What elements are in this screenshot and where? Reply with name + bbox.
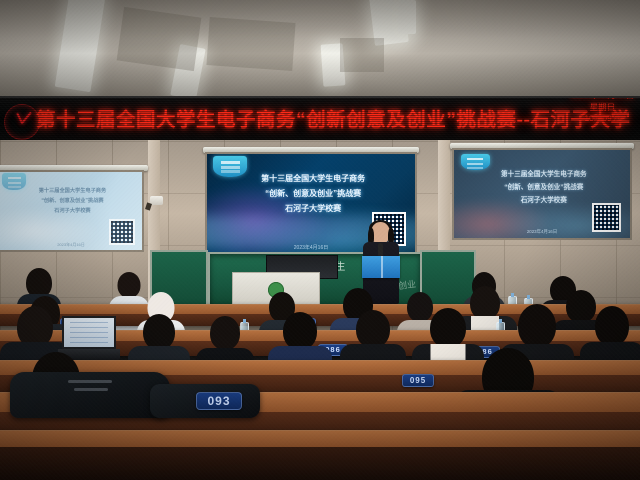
backpack-strap	[74, 388, 108, 391]
left-projection-screen: 第十三届全国大学生电子商务 “创新、创意及创业”挑战赛 石河子大学校赛 2023…	[0, 170, 144, 252]
screen-frame	[0, 170, 144, 252]
person-head	[518, 304, 556, 348]
ceiling	[0, 0, 640, 97]
lecture-hall-photo: 第十三届全国大学生电子商务“创新创意及创业”挑战赛--石河子大学 2023年04…	[0, 0, 640, 480]
desk-surface	[0, 430, 640, 448]
backpack-strap	[68, 380, 112, 383]
seat-placard: 093	[196, 392, 242, 410]
desk-front	[0, 447, 640, 480]
desk-row-nearest	[0, 430, 640, 480]
banner-weekday: 星期日	[571, 102, 634, 114]
right-projection-screen: 第十三届全国大学生电子商务 “创新、创意及创业”挑战赛 石河子大学校赛 2023…	[452, 148, 632, 240]
backpack	[10, 372, 170, 418]
clock-icon	[4, 104, 40, 140]
screen-frame	[452, 148, 632, 240]
banner-datetime: 2023年04月16日 星期日 10时09分	[571, 96, 634, 125]
banner-title: 第十三届全国大学生电子商务“创新创意及创业”挑战赛--石河子大学	[36, 104, 556, 137]
person-head	[143, 314, 175, 350]
laptop-screen	[62, 316, 116, 349]
security-camera-icon	[150, 196, 163, 205]
banner-date: 2023年04月16日	[571, 96, 634, 102]
person-head	[356, 310, 390, 348]
person-head	[595, 306, 629, 346]
person-head	[283, 312, 317, 350]
microphone-icon	[378, 243, 383, 256]
person-head	[210, 316, 240, 350]
ceiling-shading	[0, 0, 640, 97]
presenter-folder	[362, 256, 400, 278]
led-banner: 第十三届全国大学生电子商务“创新创意及创业”挑战赛--石河子大学 2023年04…	[0, 96, 640, 146]
person-head	[430, 308, 466, 348]
seat-placard: 095	[402, 374, 434, 387]
banner-time: 10时09分	[571, 113, 634, 125]
